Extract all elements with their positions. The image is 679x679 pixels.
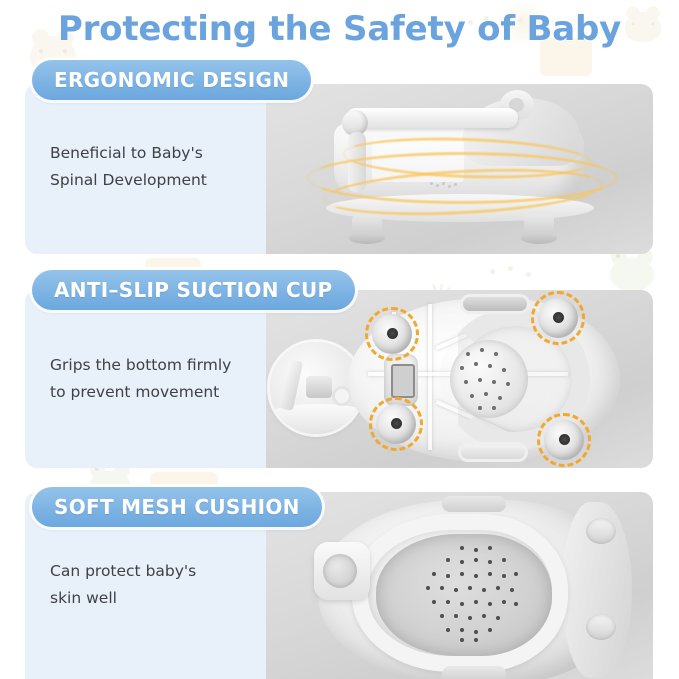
handle-slot bbox=[460, 294, 530, 314]
drain-hub bbox=[450, 340, 528, 418]
frog-face-watermark bbox=[610, 258, 654, 292]
feature-panel-anti-slip-suction-cup: Grips the bottom firmly to prevent movem… bbox=[25, 290, 653, 468]
baby-bath-seat-side-illustration bbox=[312, 90, 612, 248]
dots-watermark bbox=[490, 266, 550, 288]
suction-cup-highlight-marker bbox=[365, 307, 419, 361]
side-knob bbox=[586, 518, 616, 544]
feature-description-line: Grips the bottom firmly bbox=[50, 352, 260, 379]
feature-description-line: to prevent movement bbox=[50, 379, 260, 406]
feature-description-line: Beneficial to Baby's bbox=[50, 140, 260, 167]
feature-image-seat-side-view bbox=[266, 84, 653, 254]
suction-foot bbox=[524, 214, 554, 240]
feature-text-area: Grips the bottom firmly to prevent movem… bbox=[25, 290, 266, 468]
feature-panel-ergonomic-design: Beneficial to Baby's Spinal Development bbox=[25, 84, 653, 254]
suction-foot bbox=[352, 214, 382, 240]
suction-cup-highlight-marker bbox=[369, 397, 423, 451]
bath-seat-interior-illustration bbox=[314, 492, 634, 679]
rim-tab bbox=[442, 666, 506, 679]
bath-seat-underside-illustration bbox=[332, 292, 632, 466]
page-title: Protecting the Safety of Baby bbox=[0, 0, 679, 52]
side-knob bbox=[586, 614, 616, 640]
badge-soft-mesh-cushion: SOFT MESH CUSHION bbox=[32, 487, 322, 527]
mesh-drain-holes bbox=[426, 546, 518, 642]
suction-cup-highlight-marker bbox=[531, 291, 585, 345]
safety-rail bbox=[346, 108, 518, 128]
drain-plug-housing bbox=[314, 542, 370, 600]
feature-description: Beneficial to Baby's Spinal Development bbox=[50, 140, 260, 194]
feature-description: Can protect baby's skin well bbox=[50, 558, 260, 612]
feature-image-seat-underside bbox=[266, 290, 653, 468]
feature-image-seat-interior bbox=[266, 492, 653, 679]
feature-description-line: Spinal Development bbox=[50, 167, 260, 194]
suction-cup-highlight-marker bbox=[537, 413, 591, 467]
badge-ergonomic-design: ERGONOMIC DESIGN bbox=[32, 60, 311, 100]
feature-text-area: Beneficial to Baby's Spinal Development bbox=[25, 84, 266, 254]
handle-slot bbox=[458, 442, 528, 462]
badge-anti-slip-suction-cup: ANTI–SLIP SUCTION CUP bbox=[32, 270, 355, 310]
feature-description-line: skin well bbox=[50, 585, 260, 612]
feature-description-line: Can protect baby's bbox=[50, 558, 260, 585]
rim-tab bbox=[442, 496, 506, 512]
feature-description: Grips the bottom firmly to prevent movem… bbox=[50, 352, 260, 406]
